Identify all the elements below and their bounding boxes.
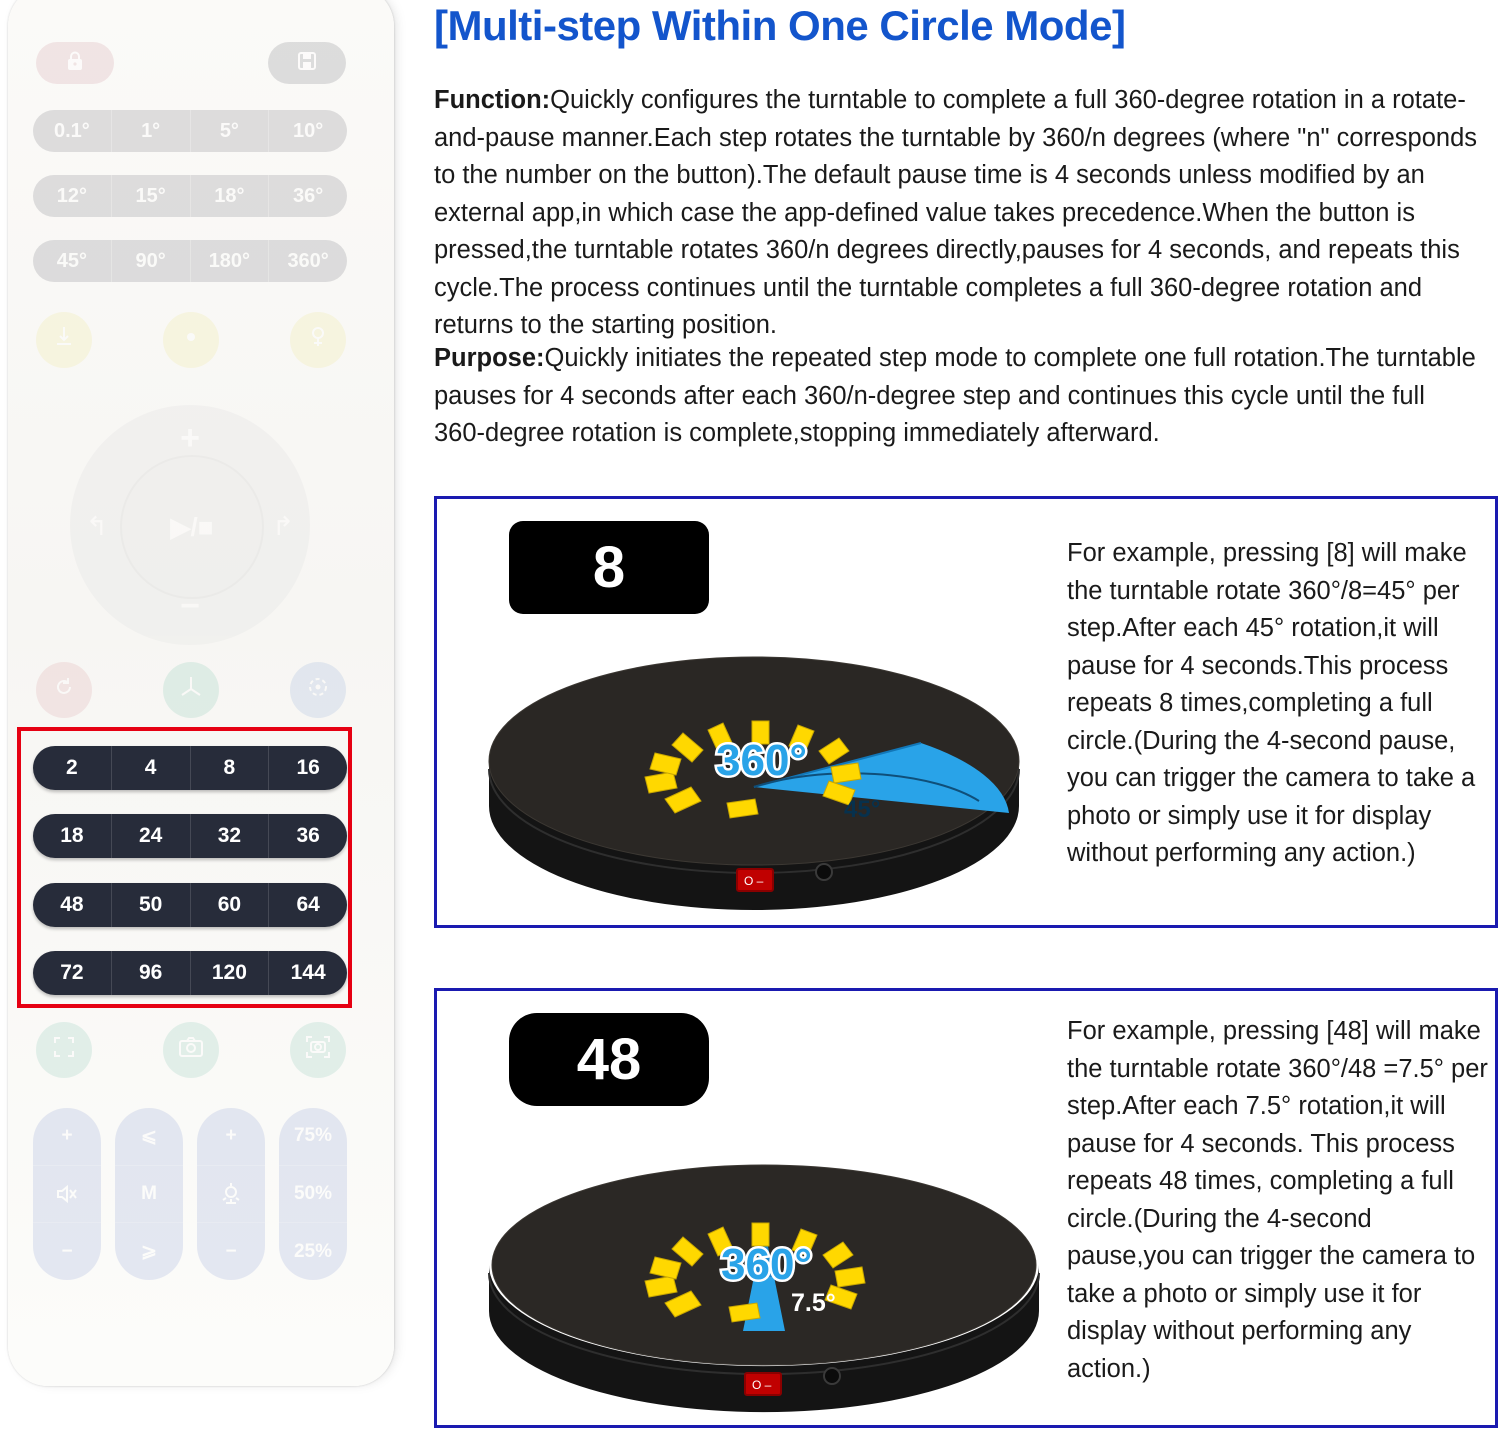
- bottom-control-columns: + − ⩽ M ⩾ + − 75% 50% 25%: [33, 1108, 347, 1280]
- frame-button[interactable]: [36, 1022, 92, 1078]
- brightness-up-button[interactable]: +: [197, 1108, 265, 1166]
- play-stop-button[interactable]: ▶/■: [120, 455, 264, 599]
- example-text-2: For example, pressing [48] will make the…: [1067, 1013, 1492, 1388]
- remote-control-pane: 0.1° 1° 5° 10° 12° 15° 18° 36° 45° 90° 1…: [0, 0, 420, 1433]
- number-button[interactable]: 32: [191, 814, 270, 858]
- percent-column[interactable]: 75% 50% 25%: [279, 1108, 347, 1280]
- number-row-3[interactable]: 48 50 60 64: [33, 883, 347, 927]
- number-button[interactable]: 96: [112, 951, 191, 995]
- angle-label-2: 7.5°: [791, 1289, 836, 1317]
- lock-icon: [65, 50, 85, 76]
- light-column[interactable]: + −: [197, 1108, 265, 1280]
- svg-text:O –: O –: [744, 874, 764, 888]
- degree-button[interactable]: 45°: [33, 240, 112, 282]
- example-box-2: 48: [434, 988, 1498, 1428]
- arc-label-2: 360°: [721, 1240, 812, 1289]
- light-dot-button[interactable]: [163, 312, 219, 368]
- function-paragraph: Function:Quickly configures the turntabl…: [434, 82, 1479, 345]
- example-badge-2: 48: [509, 1013, 709, 1106]
- degree-button[interactable]: 180°: [191, 240, 270, 282]
- number-row-4[interactable]: 72 96 120 144: [33, 951, 347, 995]
- turntable-illustration-2: 360° 7.5° O –: [469, 1161, 1059, 1416]
- number-button[interactable]: 64: [269, 883, 347, 927]
- example-box-1: 8: [434, 496, 1498, 928]
- m-mode-button[interactable]: M: [115, 1166, 183, 1224]
- frame-icon: [52, 1035, 76, 1065]
- page-title: [Multi-step Within One Circle Mode]: [434, 2, 1494, 50]
- example-badge-1: 8: [509, 521, 709, 614]
- light-down-button[interactable]: [36, 312, 92, 368]
- purpose-text: Quickly initiates the repeated step mode…: [434, 344, 1476, 447]
- function-text: Quickly configures the turntable to comp…: [434, 86, 1477, 339]
- reset-button[interactable]: [36, 662, 92, 718]
- light-down-icon: [53, 325, 75, 355]
- dpad-right-button[interactable]: ↱: [272, 511, 294, 542]
- content-pane: [Multi-step Within One Circle Mode] Func…: [428, 0, 1500, 1433]
- degree-button[interactable]: 5°: [191, 110, 270, 152]
- degree-row-2[interactable]: 12° 15° 18° 36°: [33, 175, 347, 217]
- example-text-1: For example, pressing [8] will make the …: [1067, 535, 1492, 873]
- mode-column[interactable]: ⩽ M ⩾: [115, 1108, 183, 1280]
- number-button[interactable]: 4: [112, 746, 191, 790]
- calibrate-icon: [178, 675, 204, 705]
- number-row-2[interactable]: 18 24 32 36: [33, 814, 347, 858]
- degree-button[interactable]: 10°: [269, 110, 347, 152]
- calibrate-button[interactable]: [163, 662, 219, 718]
- volume-up-button[interactable]: +: [33, 1108, 101, 1166]
- light-button-row: [36, 312, 346, 368]
- svg-text:O –: O –: [752, 1378, 772, 1392]
- degree-button[interactable]: 90°: [112, 240, 191, 282]
- number-button[interactable]: 50: [112, 883, 191, 927]
- degree-button[interactable]: 360°: [269, 240, 347, 282]
- percent-25-button[interactable]: 25%: [279, 1223, 347, 1280]
- degree-row-3[interactable]: 45° 90° 180° 360°: [33, 240, 347, 282]
- number-button[interactable]: 48: [33, 883, 112, 927]
- mode-button-row: [36, 662, 346, 718]
- function-label: Function:: [434, 86, 550, 114]
- focus-camera-button[interactable]: [290, 1022, 346, 1078]
- degree-button[interactable]: 15°: [112, 175, 191, 217]
- remote-top-button-row: [36, 42, 346, 86]
- number-button[interactable]: 2: [33, 746, 112, 790]
- speed-down-button[interactable]: ⩾: [115, 1223, 183, 1280]
- camera-button-row: [36, 1022, 346, 1078]
- camera-button[interactable]: [163, 1022, 219, 1078]
- number-button[interactable]: 16: [269, 746, 347, 790]
- number-button[interactable]: 144: [269, 951, 347, 995]
- number-button[interactable]: 60: [191, 883, 270, 927]
- volume-column[interactable]: + −: [33, 1108, 101, 1280]
- degree-button[interactable]: 36°: [269, 175, 347, 217]
- degree-row-1[interactable]: 0.1° 1° 5° 10°: [33, 110, 347, 152]
- lamp-button[interactable]: [197, 1166, 265, 1224]
- degree-button[interactable]: 1°: [112, 110, 191, 152]
- purpose-label: Purpose:: [434, 344, 545, 372]
- dpad-left-button[interactable]: ↰: [86, 511, 108, 542]
- degree-button[interactable]: 18°: [191, 175, 270, 217]
- number-row-1[interactable]: 2 4 8 16: [33, 746, 347, 790]
- mute-button[interactable]: [33, 1166, 101, 1224]
- light-bulb-button[interactable]: [290, 312, 346, 368]
- camera-icon: [178, 1036, 204, 1064]
- save-icon: [297, 51, 317, 75]
- focus-camera-icon: [305, 1035, 331, 1065]
- percent-75-button[interactable]: 75%: [279, 1108, 347, 1166]
- orbit-icon: [306, 675, 330, 705]
- number-button[interactable]: 8: [191, 746, 270, 790]
- orbit-button[interactable]: [290, 662, 346, 718]
- degree-button[interactable]: 0.1°: [33, 110, 112, 152]
- save-button[interactable]: [268, 42, 346, 84]
- reset-icon: [52, 675, 76, 705]
- purpose-paragraph: Purpose:Quickly initiates the repeated s…: [434, 340, 1479, 453]
- number-button[interactable]: 72: [33, 951, 112, 995]
- number-button[interactable]: 36: [269, 814, 347, 858]
- brightness-down-button[interactable]: −: [197, 1223, 265, 1280]
- angle-label-1: 45°: [844, 796, 880, 823]
- turntable-illustration-1: 360° 45° O –: [469, 651, 1039, 916]
- percent-50-button[interactable]: 50%: [279, 1166, 347, 1224]
- volume-down-button[interactable]: −: [33, 1223, 101, 1280]
- number-button[interactable]: 120: [191, 951, 270, 995]
- lock-button[interactable]: [36, 42, 114, 84]
- light-dot-icon: [181, 327, 201, 353]
- speed-up-button[interactable]: ⩽: [115, 1108, 183, 1166]
- number-button[interactable]: 18: [33, 814, 112, 858]
- dpad-up-button[interactable]: +: [70, 421, 310, 455]
- number-button[interactable]: 24: [112, 814, 191, 858]
- dpad-control[interactable]: + ↰ ↱ − ▶/■: [70, 405, 310, 645]
- page-root: 0.1° 1° 5° 10° 12° 15° 18° 36° 45° 90° 1…: [0, 0, 1500, 1433]
- degree-button[interactable]: 12°: [33, 175, 112, 217]
- arc-label-1: 360°: [716, 736, 807, 785]
- light-bulb-icon: [307, 325, 329, 355]
